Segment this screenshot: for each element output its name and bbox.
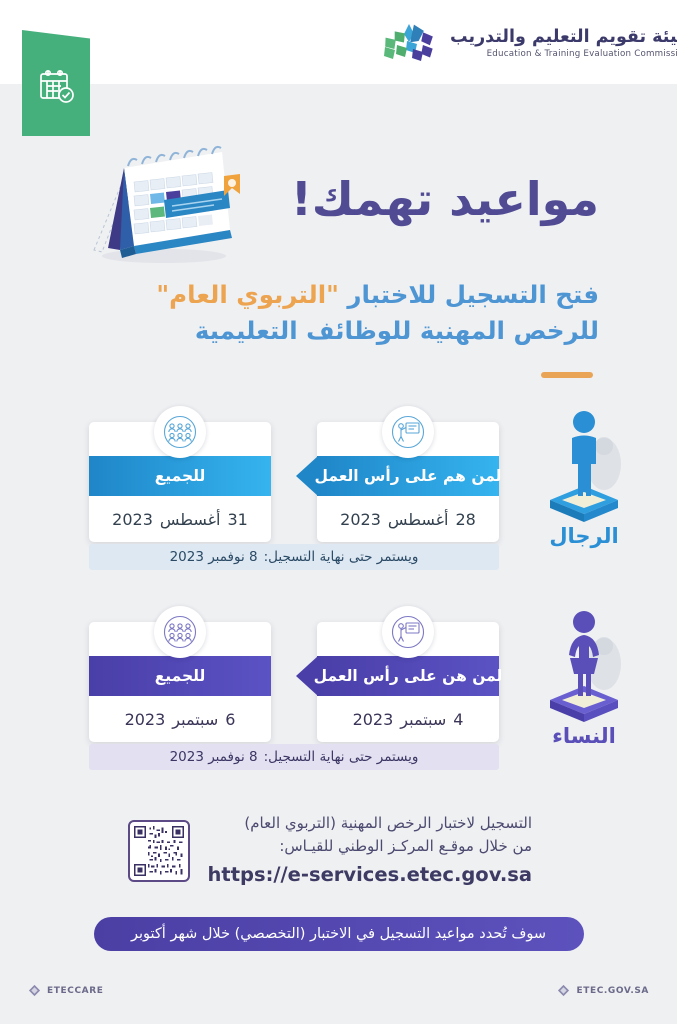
card-women-employed[interactable]: لمن هن على رأس العمل 4 سبتمبر 2023 <box>317 622 499 742</box>
diamond-icon <box>557 984 570 997</box>
subtitle-block: فتح التسجيل للاختبار "التربوي العام" للر… <box>79 277 599 348</box>
date-year: 2023 <box>340 510 381 529</box>
registration-deadline-strip: ويستمر حتى نهاية التسجيل: 8 نوفمبر 2023 <box>89 544 499 570</box>
qr-code-icon[interactable] <box>128 820 190 882</box>
teacher-board-icon <box>382 406 434 458</box>
figure-label-men: الرجال <box>549 524 618 548</box>
group-people-icon <box>154 606 206 658</box>
subtitle-line-2: للرخص المهنية للوظائف التعليمية <box>79 313 599 349</box>
card-banner-label: للجميع <box>89 656 271 696</box>
footer-etec-gov-sa[interactable]: ETEC.GOV.SA <box>557 984 649 997</box>
card-date: 31 أغسطس 2023 <box>89 496 271 542</box>
male-figure-icon <box>532 402 636 528</box>
footer-eteccare[interactable]: ETECCARE <box>28 984 104 997</box>
card-date: 6 سبتمبر 2023 <box>89 696 271 742</box>
registration-url[interactable]: https://e-services.etec.gov.sa <box>208 860 532 889</box>
strip-text: ويستمر حتى نهاية التسجيل: <box>264 549 419 565</box>
card-women-all[interactable]: للجميع 6 سبتمبر 2023 <box>89 622 271 742</box>
card-banner-label: لمن هم على رأس العمل <box>317 456 499 496</box>
figure-label-women: النساء <box>552 724 616 748</box>
diamond-icon <box>28 984 41 997</box>
calendar-ribbon-tag <box>22 30 90 136</box>
subtitle-accent: "التربوي العام" <box>156 280 339 309</box>
subtitle-part-1: فتح التسجيل للاختبار <box>347 280 599 309</box>
page-title: مواعيد تهمك! <box>291 172 599 226</box>
strip-date: 8 نوفمبر 2023 <box>170 749 258 765</box>
orange-accent-dash <box>541 372 593 378</box>
female-figure-icon <box>532 602 636 728</box>
brand-name-english: Education & Training Evaluation Commissi… <box>450 49 677 59</box>
date-year: 2023 <box>112 510 153 529</box>
qr-line-1: التسجيل لاختبار الرخص المهنية (التربوي ا… <box>208 812 532 835</box>
specialized-exam-notice-banner: سوف تُحدد مواعيد التسجيل في الاختبار (ال… <box>94 917 584 951</box>
card-banner-label: للجميع <box>89 456 271 496</box>
figure-women: النساء <box>519 602 649 748</box>
figure-men: الرجال <box>519 402 649 548</box>
calendar-check-icon <box>36 66 76 106</box>
subtitle-line-1: فتح التسجيل للاختبار "التربوي العام" <box>79 277 599 313</box>
footer-label-eteccare: ETECCARE <box>47 986 104 996</box>
card-men-employed[interactable]: لمن هم على رأس العمل 28 أغسطس 2023 <box>317 422 499 542</box>
cards-wrap-women: للجميع 6 سبتمبر 2023 <box>89 598 499 770</box>
group-people-icon <box>154 406 206 458</box>
date-month: سبتمبر <box>400 710 446 729</box>
brand-text: هيئة تقويم التعليم والتدريب Education & … <box>450 27 677 59</box>
etec-leaf-logo-icon <box>380 22 438 64</box>
footer-label-etec-gov-sa: ETEC.GOV.SA <box>576 986 649 996</box>
date-day: 28 <box>455 510 475 529</box>
qr-section: التسجيل لاختبار الرخص المهنية (التربوي ا… <box>128 812 532 889</box>
desk-calendar-illustration-icon <box>72 138 252 268</box>
date-year: 2023 <box>353 710 394 729</box>
registration-deadline-strip: ويستمر حتى نهاية التسجيل: 8 نوفمبر 2023 <box>89 744 499 770</box>
date-month: سبتمبر <box>172 710 218 729</box>
teacher-board-icon <box>382 606 434 658</box>
date-year: 2023 <box>125 710 166 729</box>
card-men-all[interactable]: للجميع 31 أغسطس 2023 <box>89 422 271 542</box>
date-month: أغسطس <box>388 510 449 529</box>
strip-date: 8 نوفمبر 2023 <box>170 549 258 565</box>
brand-lockup: هيئة تقويم التعليم والتدريب Education & … <box>380 22 677 64</box>
date-month: أغسطس <box>160 510 221 529</box>
card-date: 4 سبتمبر 2023 <box>317 696 499 742</box>
date-day: 31 <box>227 510 247 529</box>
date-day: 4 <box>453 710 463 729</box>
card-date: 28 أغسطس 2023 <box>317 496 499 542</box>
card-banner-label: لمن هن على رأس العمل <box>317 656 499 696</box>
qr-line-2: من خلال موقـع المركـز الوطني للقيـاس: <box>208 835 532 858</box>
poster-root: هيئة تقويم التعليم والتدريب Education & … <box>0 0 677 1024</box>
cards-wrap-men: للجميع 31 أغسطس 2023 <box>89 398 499 570</box>
qr-text: التسجيل لاختبار الرخص المهنية (التربوي ا… <box>208 812 532 889</box>
brand-name-arabic: هيئة تقويم التعليم والتدريب <box>450 27 677 47</box>
date-day: 6 <box>225 710 235 729</box>
strip-text: ويستمر حتى نهاية التسجيل: <box>264 749 419 765</box>
